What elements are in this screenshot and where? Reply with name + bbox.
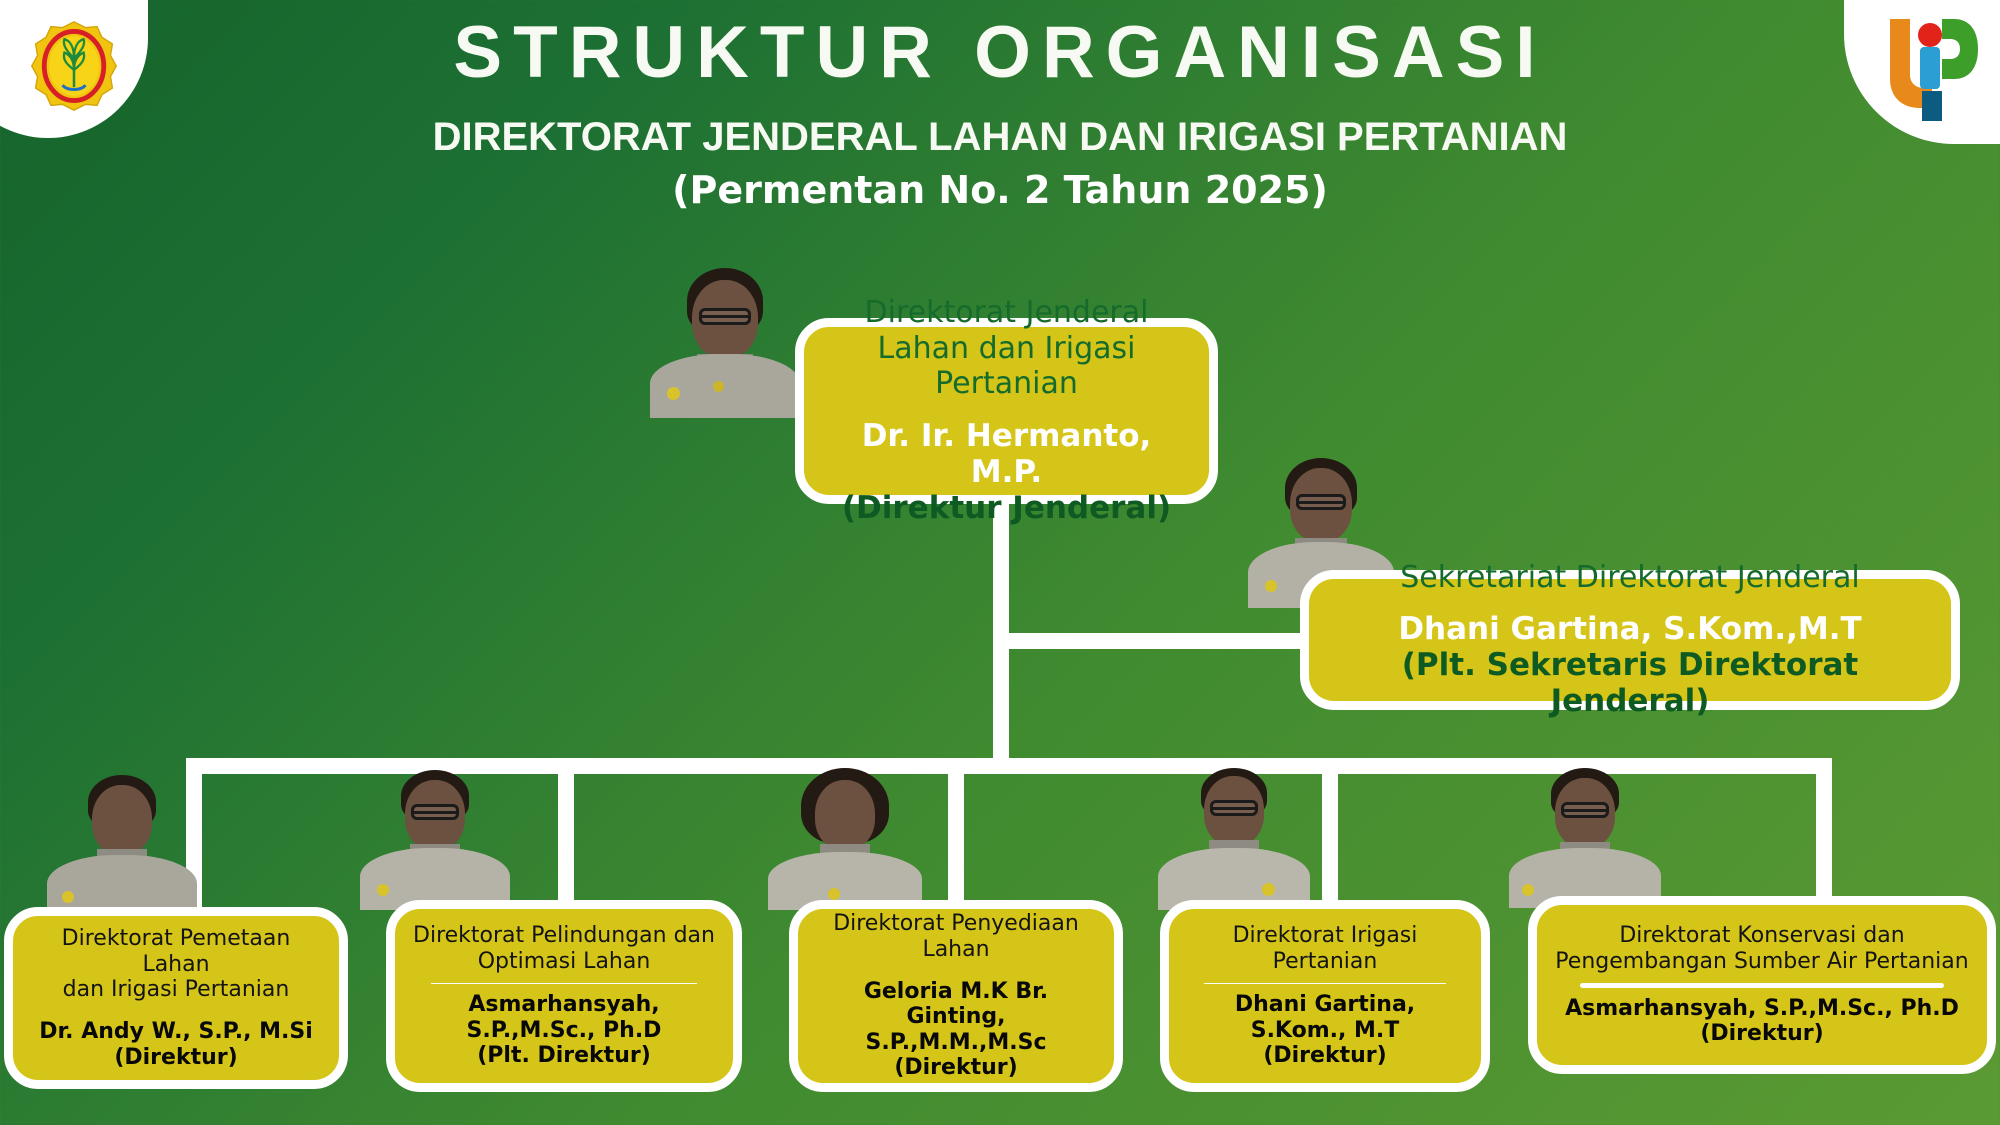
node-unit-name: Direktorat Penyediaan Lahan [833,911,1079,963]
node-direktorat-pemetaan-lahan[interactable]: Direktorat Pemetaan Lahan dan Irigasi Pe… [4,907,348,1089]
node-unit-line1: Direktorat Pemetaan Lahan [31,926,321,978]
node-person-name: Dr. Ir. Hermanto, M.P. [822,419,1191,491]
logo-left-inner [26,18,122,118]
node-unit-line2: Lahan dan Irigasi Pertanian [822,331,1191,402]
node-person-role: (Direktur Jenderal) [842,491,1171,527]
connector-secretariat-horizontal [993,633,1313,649]
node-sekretariat-direktorat-jenderal[interactable]: Sekretariat Direktorat Jenderal Dhani Ga… [1300,570,1960,710]
node-direktorat-penyediaan-lahan[interactable]: Direktorat Penyediaan Lahan Geloria M.K … [789,900,1123,1092]
photo-direktur-konservasi-sumber-air [1500,768,1670,908]
node-person-name: Dhani Gartina, [1235,992,1415,1018]
node-direktorat-jenderal[interactable]: Direktorat Jenderal Lahan dan Irigasi Pe… [795,318,1218,504]
node-direktorat-konservasi-sumber-air[interactable]: Direktorat Konservasi dan Pengembangan S… [1528,896,1996,1074]
node-person-name: Dr. Andy W., S.P., M.Si [39,1019,313,1045]
page-subtitle: DIREKTORAT JENDERAL LAHAN DAN IRIGASI PE… [0,115,2000,160]
node-person-name: Dhani Gartina, S.Kom.,M.T [1398,612,1861,648]
node-divider [1580,983,1944,988]
node-unit-line1: Direktorat Konservasi dan [1555,923,1968,949]
node-unit-line1: Sekretariat Direktorat Jenderal [1400,560,1859,595]
connector-drop-d3 [948,758,964,910]
node-unit-line2: Pengembangan Sumber Air Pertanian [1555,949,1968,975]
node-unit-name: Direktorat Pelindungan dan Optimasi Laha… [413,923,715,975]
connector-drop-d2 [558,758,574,910]
photo-direktur-pelindungan-optimasi-lahan [355,770,515,910]
photo-direktur-pemetaan-lahan [42,775,202,917]
node-unit-line1: Direktorat Penyediaan [833,911,1079,937]
node-person-name: Geloria M.K Br. [864,979,1048,1005]
node-person-name: Asmarhansyah, [468,992,659,1018]
page-title: STRUKTUR ORGANISASI [0,14,2000,93]
node-person-name-2: S.Kom., M.T [1251,1018,1400,1044]
photo-direktur-penyediaan-lahan [760,768,930,910]
node-unit-line1: Direktorat Pelindungan dan [413,923,715,949]
node-person-role: (Direktur) [114,1045,237,1071]
connector-drop-d5 [1816,758,1832,910]
connector-drop-d4 [1322,758,1338,910]
lip-mark-icon [1872,11,1982,123]
node-unit-line2: Lahan [833,937,1079,963]
node-unit-line1: Direktorat Jenderal [822,295,1191,330]
node-person-name: Asmarhansyah, S.P.,M.Sc., Ph.D [1565,996,1959,1022]
photo-direktur-irigasi-pertanian [1150,768,1318,910]
header-titles: STRUKTUR ORGANISASI DIREKTORAT JENDERAL … [0,14,2000,212]
node-person-role: (Plt. Sekretaris Direktorat Jenderal) [1327,648,1933,720]
photo-direktur-jenderal [645,268,805,418]
node-person-name-2: S.P.,M.Sc., Ph.D [467,1018,662,1044]
node-unit-line2: dan Irigasi Pertanian [31,977,321,1003]
node-unit-line2: Optimasi Lahan [413,949,715,975]
node-person-name-2: Ginting, S.P.,M.M.,M.Sc [816,1004,1096,1055]
node-person-role: (Direktur) [894,1055,1017,1081]
node-divider [1204,983,1447,985]
node-divider [431,983,697,985]
node-person-role: (Direktur) [1700,1021,1823,1047]
node-unit-name: Direktorat Konservasi dan Pengembangan S… [1555,923,1968,975]
node-person-role: (Direktur) [1263,1043,1386,1069]
connector-dirjen-vertical [993,504,1009,758]
node-unit-line1: Direktorat Irigasi [1233,923,1418,949]
node-unit-name: Direktorat Pemetaan Lahan dan Irigasi Pe… [31,926,321,1004]
node-unit-name: Direktorat Irigasi Pertanian [1233,923,1418,975]
logo-right-inner [1872,11,1982,127]
node-unit-line2: Pertanian [1233,949,1418,975]
ministry-emblem-icon [26,18,122,114]
node-unit-name: Sekretariat Direktorat Jenderal [1400,560,1859,595]
node-direktorat-irigasi-pertanian[interactable]: Direktorat Irigasi Pertanian Dhani Garti… [1160,900,1490,1092]
node-unit-name: Direktorat Jenderal Lahan dan Irigasi Pe… [822,295,1191,401]
node-person-role: (Plt. Direktur) [477,1043,651,1069]
node-direktorat-pelindungan-optimasi-lahan[interactable]: Direktorat Pelindungan dan Optimasi Laha… [386,900,742,1092]
regulation-reference: (Permentan No. 2 Tahun 2025) [0,168,2000,212]
